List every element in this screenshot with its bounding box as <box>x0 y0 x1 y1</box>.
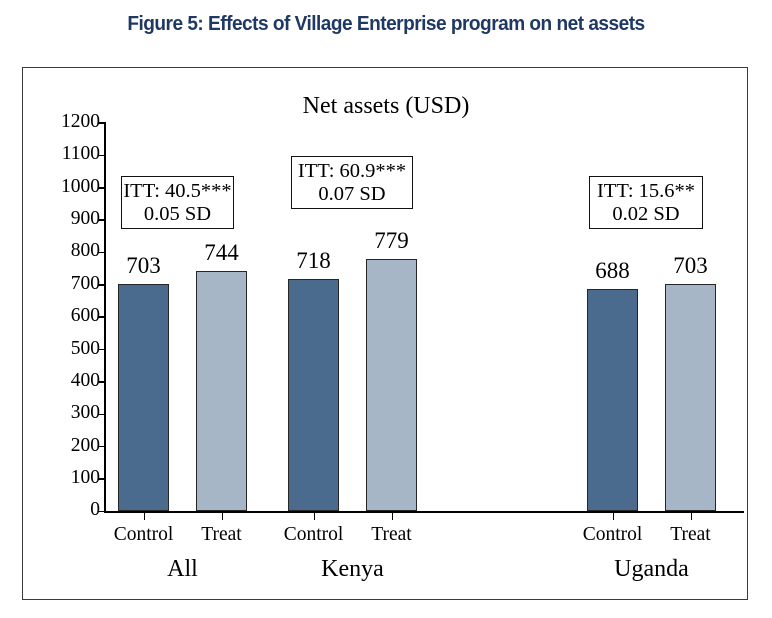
bar-chart-plot: Net assets (USD) 12001100100090080070060… <box>23 68 749 601</box>
y-axis-tick-mark <box>98 122 106 124</box>
annotation-effect-size: 0.05 SD <box>122 203 233 226</box>
y-axis-tick-label: 100 <box>71 467 100 489</box>
bar-value-label: 744 <box>180 240 263 266</box>
annotation-box-uganda: ITT: 15.6**0.02 SD <box>589 176 703 229</box>
y-axis-tick-mark <box>98 511 106 513</box>
y-axis-tick-mark <box>98 478 106 480</box>
y-axis-tick-mark <box>98 381 106 383</box>
bar-kenya-control[interactable] <box>288 279 339 511</box>
figure-caption: Figure 5: Effects of Village Enterprise … <box>27 12 745 36</box>
annotation-box-all: ITT: 40.5***0.05 SD <box>121 176 234 229</box>
x-axis-tick-mark <box>691 512 693 520</box>
y-axis-tick-label: 1200 <box>61 111 100 133</box>
annotation-itt-estimate: ITT: 40.5*** <box>122 180 233 203</box>
x-axis-tick-mark <box>613 512 615 520</box>
x-axis-tick-mark <box>222 512 224 520</box>
annotation-effect-size: 0.02 SD <box>590 203 702 226</box>
annotation-box-kenya: ITT: 60.9***0.07 SD <box>291 156 413 209</box>
bar-value-label: 688 <box>571 258 654 284</box>
y-axis-tick-label: 1000 <box>61 176 100 198</box>
bar-all-control[interactable] <box>118 284 169 512</box>
y-axis-tick-mark <box>98 155 106 157</box>
y-axis-tick-label: 600 <box>71 305 100 327</box>
y-axis-tick-mark <box>98 414 106 416</box>
y-axis-tick-mark <box>98 187 106 189</box>
group-label-kenya: Kenya <box>273 556 433 583</box>
y-axis-tick-mark <box>98 316 106 318</box>
figure-frame: Net assets (USD) 12001100100090080070060… <box>22 67 748 600</box>
bar-kenya-treat[interactable] <box>366 259 417 511</box>
bar-uganda-treat[interactable] <box>665 284 716 512</box>
y-axis-tick-mark <box>98 219 106 221</box>
y-axis-tick-label: 800 <box>71 240 100 262</box>
bar-value-label: 779 <box>350 228 433 254</box>
bar-value-label: 703 <box>102 253 185 279</box>
x-axis-line <box>104 511 744 513</box>
y-axis-tick-label: 200 <box>71 435 100 457</box>
bar-all-treat[interactable] <box>196 271 247 512</box>
x-axis-tick-mark <box>392 512 394 520</box>
y-axis-tick-label: 900 <box>71 208 100 230</box>
x-axis-tick-mark <box>144 512 146 520</box>
x-axis-tick-mark <box>314 512 316 520</box>
y-axis-tick-label: 1100 <box>62 143 100 165</box>
y-axis-tick-label: 300 <box>71 402 100 424</box>
x-axis-tick-label-treat: Treat <box>337 524 447 546</box>
y-axis-tick-label: 700 <box>71 273 100 295</box>
y-axis-tick-mark <box>98 284 106 286</box>
group-label-all: All <box>103 556 263 583</box>
x-axis-tick-label-treat: Treat <box>636 524 746 546</box>
annotation-effect-size: 0.07 SD <box>292 183 412 206</box>
annotation-itt-estimate: ITT: 15.6** <box>590 180 702 203</box>
chart-title: Net assets (USD) <box>23 93 749 120</box>
y-axis-tick-mark <box>98 349 106 351</box>
y-axis-tick-label: 400 <box>71 370 100 392</box>
y-axis-tick-mark <box>98 446 106 448</box>
y-axis-tick-label: 500 <box>71 338 100 360</box>
group-label-uganda: Uganda <box>572 556 732 583</box>
annotation-itt-estimate: ITT: 60.9*** <box>292 160 412 183</box>
bar-value-label: 718 <box>272 248 355 274</box>
bar-uganda-control[interactable] <box>587 289 638 512</box>
bar-value-label: 703 <box>649 253 732 279</box>
